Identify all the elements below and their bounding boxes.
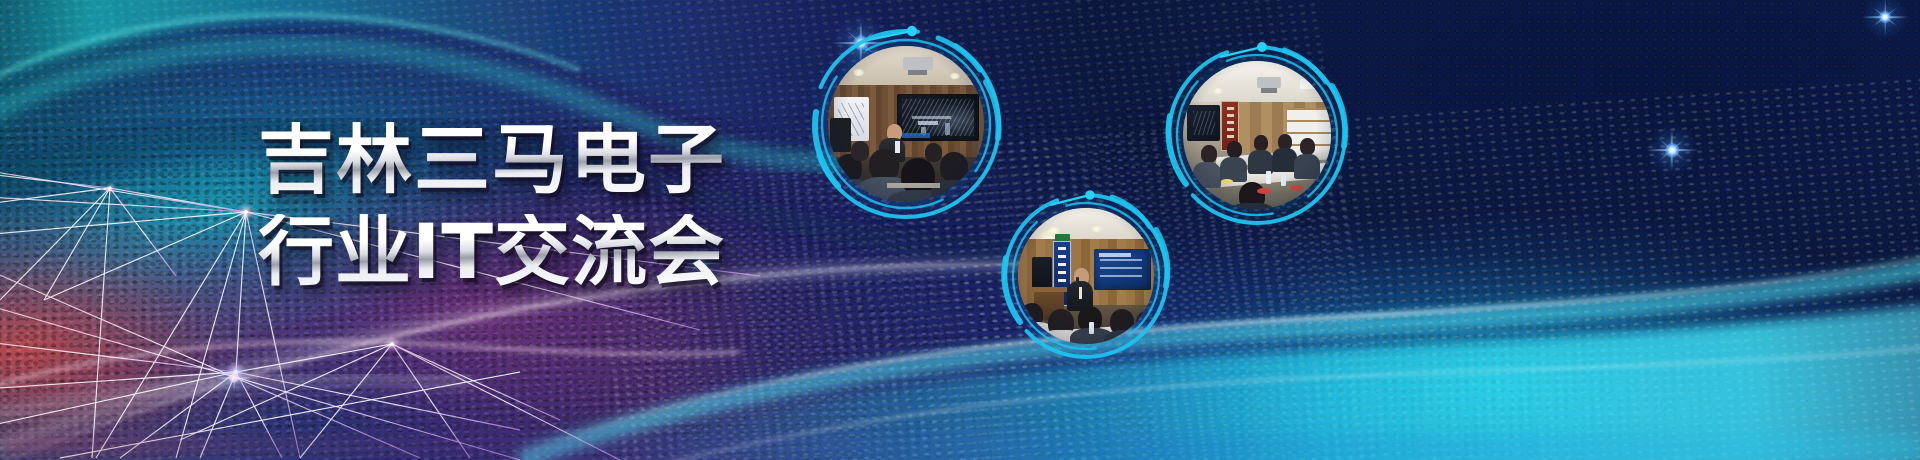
photo-image-lecture-hall: [828, 46, 984, 202]
photo-vignette: [1183, 61, 1331, 209]
headline-block: 吉林三马电子 行业IT交流会: [258, 122, 798, 290]
photo-circle-training-room[interactable]: [1000, 190, 1172, 362]
bottom-sheen: [0, 434, 1920, 460]
photo-image-meeting-room: [1183, 61, 1331, 209]
banner-root: 吉林三马电子 行业IT交流会: [0, 0, 1920, 460]
scene-meeting-room: [1183, 61, 1331, 209]
headline-line-1: 吉林三马电子: [258, 122, 798, 198]
scene-lecture-hall: [828, 46, 984, 202]
photo-circle-meeting-room[interactable]: [1164, 42, 1350, 228]
headline-line-2: 行业IT交流会: [258, 214, 798, 290]
photo-vignette: [828, 46, 984, 202]
photo-vignette: [1018, 208, 1154, 344]
photo-circle-lecture-hall[interactable]: [808, 26, 1004, 222]
scene-training-room: [1018, 208, 1154, 344]
photo-image-training-room: [1018, 208, 1154, 344]
